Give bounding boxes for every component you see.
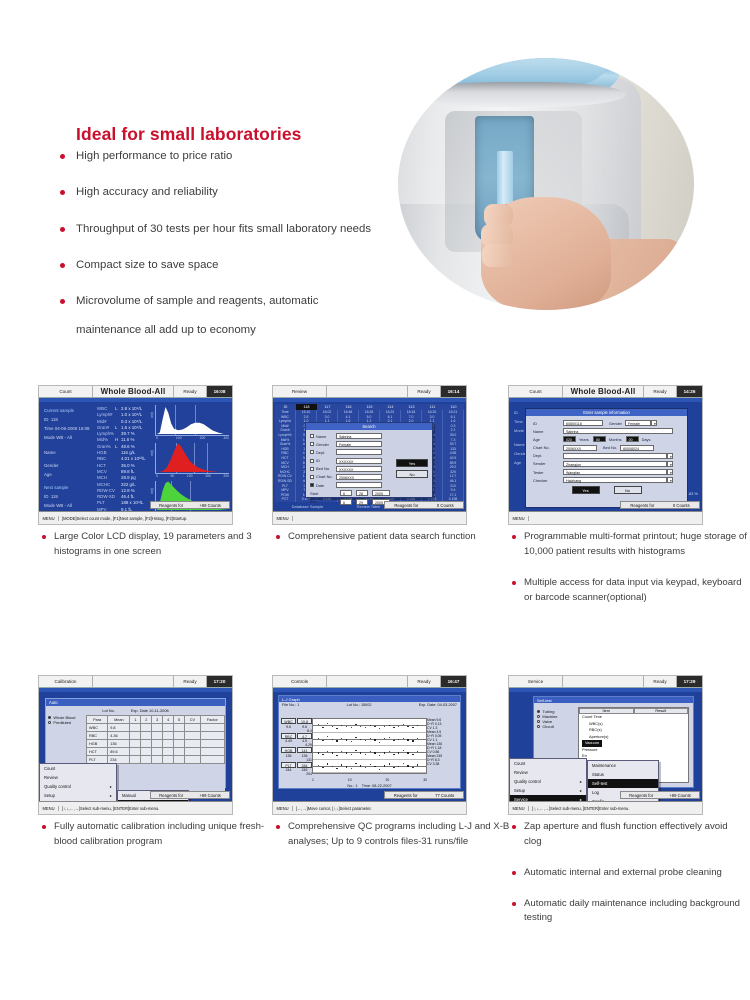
titlebar-title [327, 386, 408, 397]
clock: 16:47 [441, 676, 466, 687]
table-cell: 4.36 [108, 732, 130, 740]
search-field-label: Name [316, 434, 326, 439]
lj-x-axis: 1102030 [312, 778, 427, 782]
menu-key[interactable]: MENU [39, 806, 59, 811]
table-cell [184, 748, 200, 756]
bullet-dot-icon [60, 299, 65, 304]
lj-parameter-list[interactable]: WBC10.89.69.68.4RBC4.74.494.54.29HGB1411… [281, 718, 312, 776]
field-time: Time 04-06-2006 16:08 [44, 424, 96, 433]
lj-data-point [393, 754, 394, 755]
submenu-item-maintenance[interactable]: Maintenance [588, 761, 658, 770]
search-field-input[interactable]: XXXXXX [336, 458, 382, 464]
lj-data-point [327, 723, 328, 724]
table-cell [130, 724, 141, 732]
table-cell: 136 [108, 740, 130, 748]
chevron-down-icon[interactable]: ▾ [667, 453, 673, 459]
yes-button[interactable]: Yes [396, 459, 428, 467]
bullet-dot-icon [512, 825, 516, 829]
lj-data-point [389, 763, 390, 764]
menu-item-label: Setup [44, 791, 55, 800]
dialog-title: Search [306, 423, 432, 430]
field-row-name[interactable]: Name Sabrina [533, 428, 680, 434]
titlebar-mode: Count [509, 386, 563, 397]
param-target: 4.49 [281, 739, 296, 743]
lj-data-point [403, 750, 404, 751]
param-name[interactable]: RBC [281, 733, 296, 739]
search-date-start-row[interactable]: Start 6 28 2005 [310, 490, 428, 496]
hero-bullet: High accuracy and reliability [60, 184, 390, 201]
table-cell: HGB [87, 740, 108, 748]
file-no-label: File No.: [282, 703, 296, 707]
field-age: Age [44, 470, 96, 479]
caption-item: Programmable multi-format printout; huge… [512, 530, 747, 560]
yes-button[interactable]: Yes [572, 486, 600, 494]
table-column-header: 5 [174, 716, 185, 724]
field-id: ID 118 [44, 415, 96, 424]
caption-text: Zap aperture and flush function effectiv… [524, 820, 747, 850]
screenshot-review-search-screen: Review Ready 16:14 ID1181171161151141131… [272, 385, 467, 525]
tester-label: Tester [533, 470, 563, 475]
caption-text: Automatic internal and external probe cl… [524, 866, 722, 881]
table-cell [184, 732, 200, 740]
run-no-label: No.: [347, 784, 354, 788]
menu-item-label: Quality control [44, 782, 71, 791]
bullet-dot-icon [42, 825, 46, 829]
table-cell [200, 748, 224, 756]
id-input[interactable]: 60800118 [563, 420, 603, 426]
histogram-plt-ylabel: nr(t) [150, 488, 154, 494]
status-badge: Ready [174, 676, 207, 687]
lj-data-point [389, 725, 390, 726]
lj-data-point [403, 738, 404, 739]
table-cell [130, 748, 141, 756]
x-tick-label: 10 [348, 778, 352, 782]
table-row[interactable]: WBC9.8 [87, 724, 225, 732]
menu-key[interactable]: MENU [273, 516, 293, 521]
clock: 16:14 [441, 386, 466, 397]
radio-icon[interactable] [537, 720, 540, 723]
caption-text: Automatic daily maintenance including ba… [524, 897, 747, 927]
menu-item-setup[interactable]: Setup▸ [40, 791, 116, 800]
sender-input[interactable]: Zhangjun [563, 461, 667, 467]
lj-data-point [407, 739, 408, 740]
checkbox-icon[interactable] [310, 459, 314, 463]
screenshot-service-selftest-screen: Service Ready 17:29 Self-test TubingMach… [508, 675, 703, 815]
selftest-item-label: RBC(s) [589, 727, 602, 732]
lj-data-point [393, 727, 394, 728]
table-header-row: ParaMean12345CVFactor [87, 716, 225, 724]
lj-data-point [365, 754, 366, 755]
table-cell: RBC [87, 732, 108, 740]
bullet-dot-icon [60, 154, 65, 159]
search-field-row[interactable]: GenderFemale [310, 441, 428, 447]
menubar[interactable]: MENU [509, 511, 702, 524]
bullet-dot-icon [42, 535, 46, 539]
checker-input[interactable]: Haizhang [563, 477, 667, 483]
table-cell [152, 724, 163, 732]
tester-input[interactable]: Wangfan [563, 469, 667, 475]
field-row-sender[interactable]: Sender Zhangjun ▾ [533, 461, 680, 467]
lj-data-point [351, 768, 352, 769]
menu-item-count[interactable]: Count [40, 764, 116, 773]
search-field-input[interactable]: XXXXXX [336, 466, 382, 472]
param-name[interactable]: HGB [281, 747, 296, 753]
field-row-checker[interactable]: Checker Haizhang ▾ [533, 477, 680, 483]
menu-key[interactable]: MENU [509, 806, 529, 811]
next-field-id: ID 119 [44, 492, 96, 501]
sample-info-dialog[interactable]: Enter sample information ID 60800118 Gen… [525, 408, 688, 508]
field-mode: Mode WB - All [44, 433, 96, 442]
table-row[interactable]: RBC4.36 [87, 732, 225, 740]
menu-item-review[interactable]: Review [40, 773, 116, 782]
lj-data-point [365, 727, 366, 728]
lj-band-plt [313, 760, 426, 774]
chevron-right-icon: ▸ [580, 777, 582, 786]
date-start-label: Start [310, 491, 340, 496]
run-time-value: 08-22-2007 [372, 784, 391, 788]
menu-item-review[interactable]: Review [510, 768, 586, 777]
status-badge: Ready [644, 386, 677, 397]
bullet-dot-icon [512, 871, 516, 875]
bullet-dot-icon [512, 581, 516, 585]
calibration-mode-options[interactable]: Whole Blood Prediluted [46, 715, 86, 764]
radio-icon[interactable] [537, 725, 540, 728]
option-circuit[interactable]: Circuit [537, 724, 575, 729]
search-field-label: Bed No. [316, 466, 330, 471]
age-months-input[interactable]: 00 [593, 436, 606, 442]
field-row-id[interactable]: ID 60800118 Gender Female ▾ [533, 420, 680, 426]
dept-input[interactable] [563, 453, 667, 459]
search-field-label: ID [316, 458, 320, 463]
menu-key[interactable]: MENU [39, 516, 59, 521]
lj-data-point [332, 726, 333, 727]
chevron-down-icon[interactable]: ▾ [667, 469, 673, 475]
table-cell [174, 756, 185, 764]
selftest-item-label: Aperture(s) [589, 734, 608, 739]
lj-data-point [332, 752, 333, 753]
lj-data-point [365, 740, 366, 741]
histogram-rbc-curve [157, 442, 228, 472]
lj-footer: No.: 1 Time: 08-22-2007 [279, 784, 460, 788]
histogram-rbc-xticks: 0 50 100 150 200 [156, 474, 229, 478]
start-day[interactable]: 28 [356, 490, 368, 496]
chevron-down-icon[interactable]: ▾ [651, 420, 657, 426]
lj-data-point [351, 727, 352, 728]
chart-no-input[interactable]: 2006XXX [563, 445, 597, 451]
run-time-label: Time: [362, 784, 371, 788]
lj-data-point [403, 724, 404, 725]
no-button[interactable]: No [614, 486, 642, 494]
histogram-column: nr(t) 0 100 200 300 nr(t) [155, 405, 229, 515]
search-field-row[interactable]: Dept. [310, 449, 428, 455]
start-month[interactable]: 6 [340, 490, 352, 496]
lj-data-point [407, 765, 408, 766]
search-field-row[interactable]: NameSabrina [310, 433, 428, 439]
gender-select[interactable]: Female [625, 420, 651, 426]
name-label: Name [533, 429, 563, 434]
reagent-indicator: Reagents for +99 Counts [150, 501, 230, 509]
caption-text: Comprehensive QC programs including L-J … [288, 820, 511, 850]
table-cell [130, 740, 141, 748]
lot-row: Lot No. Exp. Date 10-11-2006 [46, 706, 225, 715]
menu-item-label: Quality control [514, 777, 541, 786]
radio-icon[interactable] [48, 716, 51, 719]
checkbox-icon[interactable] [310, 475, 314, 479]
menu-key[interactable]: MENU [273, 806, 293, 811]
lj-data-point [374, 739, 375, 740]
table-row[interactable]: HCT89.6 [87, 748, 225, 756]
lj-data-point [384, 752, 385, 753]
radio-icon[interactable] [48, 721, 51, 724]
caption-item: Automatic daily maintenance including ba… [512, 897, 747, 927]
search-field-input[interactable] [336, 482, 382, 488]
chevron-down-icon[interactable]: ▾ [667, 477, 673, 483]
col-result: Result [634, 708, 689, 714]
titlebar: Controls Ready 16:47 [273, 676, 466, 688]
bed-no-input[interactable]: 60008024 [620, 445, 654, 451]
lj-band-rbc [313, 733, 426, 747]
menu-item-setup[interactable]: Setup▸ [510, 786, 586, 795]
lj-data-point [318, 765, 319, 766]
page-title: Ideal for small laboratories [76, 124, 302, 145]
checkbox-icon[interactable] [310, 450, 314, 454]
next-sample-label: Next sample [44, 483, 96, 492]
calibration-table[interactable]: ParaMean12345CVFactorWBC9.8RBC4.36HGB136… [86, 715, 225, 764]
checkbox-icon[interactable] [310, 483, 314, 487]
lj-data-point [384, 726, 385, 727]
table-cell [163, 732, 174, 740]
search-field-label: Date [316, 483, 324, 488]
screenshot-qc-lj-graph-screen: Controls Ready 16:47 L-J Graph File No.:… [272, 675, 467, 815]
exp-label: Exp. Date [131, 708, 148, 713]
age-label: Age [533, 437, 563, 442]
table-cell: WBC [87, 724, 108, 732]
age-days-input[interactable]: 00 [626, 436, 639, 442]
checkbox-icon[interactable] [310, 434, 314, 438]
x-tick-label: 30 [423, 778, 427, 782]
titlebar: Count Whole Blood-All Ready 16:08 [39, 386, 232, 398]
reagent-indicator: Reagents for 0 Counts [384, 501, 464, 509]
status-badge: Ready [644, 676, 677, 687]
field-row-dept[interactable]: Dept. ▾ [533, 453, 680, 459]
x-tick-label: 20 [386, 778, 390, 782]
param-target: 9.6 [281, 725, 296, 729]
lj-data-point [412, 754, 413, 755]
field-gender: Gender [44, 461, 96, 470]
histogram-wbc-curve [157, 404, 228, 434]
titlebar-title: Whole Blood-All [563, 386, 644, 397]
selftest-item-list[interactable]: Count TimeWBC(s)RBC(s)Aperture(s)VacuumP… [579, 714, 688, 760]
caption-item: Fully automatic calibration including un… [42, 820, 277, 850]
search-field-input[interactable] [336, 449, 382, 455]
menubar[interactable]: MENU [←,→]Move cursor, [↑,↓]Select param… [273, 801, 466, 814]
next-field-mode: Mode WB - All [44, 501, 96, 510]
table-cell: HCT [87, 748, 108, 756]
table-cell [200, 740, 224, 748]
menu-item-quality-control[interactable]: Quality control▸ [40, 782, 116, 791]
lj-data-point [322, 740, 323, 741]
caption-item: Comprehensive patient data search functi… [276, 530, 511, 545]
reagent-indicator: Reagents for +99 Counts [150, 791, 230, 799]
lj-parameter-rbc[interactable]: RBC4.74.494.54.29 [281, 733, 312, 748]
table-cell [152, 740, 163, 748]
table-cell [141, 748, 152, 756]
caption-text: Comprehensive patient data search functi… [288, 530, 476, 545]
caption-text: Programmable multi-format printout; huge… [524, 530, 747, 560]
search-field-input[interactable]: Sabrina [336, 433, 382, 439]
table-cell [152, 756, 163, 764]
selftest-panel-title: Self-test [534, 697, 693, 703]
clock: 14:26 [677, 386, 702, 397]
table-cell [141, 756, 152, 764]
menu-key[interactable]: MENU [509, 516, 529, 521]
analyzer-photo [398, 58, 694, 310]
file-no-value: 1 [297, 703, 299, 707]
exp-value: 10-11-2006 [149, 708, 169, 713]
chart-no-label: Chart No. [533, 445, 563, 450]
lj-parameter-hgb[interactable]: HGB141136136131 [281, 747, 312, 762]
titlebar-mode: Calibration [39, 676, 93, 687]
lj-data-point [374, 766, 375, 767]
table-cell: 89.6 [108, 748, 130, 756]
table-cell [200, 732, 224, 740]
search-field-row[interactable]: Date [310, 482, 428, 488]
lj-data-point [322, 767, 323, 768]
menu-item-count[interactable]: Count [510, 759, 586, 768]
radio-icon[interactable] [537, 715, 540, 718]
table-cell [184, 756, 200, 764]
menubar[interactable]: MENU [273, 511, 466, 524]
selftest-item[interactable]: Err [579, 753, 688, 760]
menubar[interactable]: MENU [↑,↓,←,→]Select sub-menu, [ENTER]En… [509, 801, 702, 814]
table-cell [141, 740, 152, 748]
chevron-right-icon: ▸ [110, 791, 112, 800]
lj-parameter-plt[interactable]: PLT284244245204 [281, 762, 312, 777]
param-upper: 10.8 [297, 718, 312, 724]
menu-item-label: Status [592, 770, 604, 779]
checkbox-icon[interactable] [310, 442, 314, 446]
submenu-item-self-test[interactable]: Self-test [588, 779, 658, 788]
field-row-tester[interactable]: Tester Wangfan ▾ [533, 469, 680, 475]
menu-hint: [↑,↓,←,→]Select sub-menu, [ENTER]Enter s… [529, 806, 629, 811]
menu-item-quality-control[interactable]: Quality control▸ [510, 777, 586, 786]
caption-item: Automatic internal and external probe cl… [512, 866, 747, 881]
selftest-option-list[interactable]: TubingMachineValveCircuit [537, 709, 575, 729]
search-field-input[interactable]: Female [336, 441, 382, 447]
param-name[interactable]: WBC [281, 718, 296, 724]
caption-text: Large Color LCD display, 19 parameters a… [54, 530, 277, 560]
lj-data-point [336, 755, 337, 756]
hero-bullet-text-line2: maintenance all add up to economy [76, 322, 319, 339]
lj-stats-rbc: Mean 4.5D−R 0.05CV 1.1 [427, 730, 458, 742]
menu-item-label: Count [514, 759, 525, 768]
lj-data-point [412, 740, 413, 741]
menubar[interactable]: MENU [↑,↓,←,→]Select sub-menu, [ENTER]En… [39, 801, 232, 814]
table-column-header: 4 [163, 716, 174, 724]
menubar[interactable]: MENU [MODE]Select count mode, [F1]Next s… [39, 511, 232, 524]
field-row-age[interactable]: Age 020 Years 00 Months 00 Days [533, 436, 680, 442]
field-row-chart[interactable]: Chart No. 2006XXX Bed No. 60008024 [533, 445, 680, 451]
table-row[interactable]: HGB136 [87, 740, 225, 748]
table-cell [152, 732, 163, 740]
lj-data-point [379, 755, 380, 756]
lj-data-point [379, 742, 380, 743]
table-cell [152, 748, 163, 756]
lj-data-point [332, 739, 333, 740]
stat-cv: 3.38 [433, 762, 440, 766]
lj-data-point [374, 726, 375, 727]
results-column: WBCL2.8 x 10⁹/LLymph#1.0 x 10⁹/LMid#0.3 … [97, 406, 153, 524]
titlebar-mode: Review [273, 386, 327, 397]
sender-label: Sender [533, 461, 563, 466]
titlebar: Count Whole Blood-All Ready 14:26 [509, 386, 702, 398]
lj-data-point [327, 763, 328, 764]
dialog-title: Enter sample information [526, 409, 687, 416]
field-name: Name [44, 448, 96, 457]
start-year[interactable]: 2005 [372, 490, 390, 496]
chevron-down-icon[interactable]: ▾ [667, 461, 673, 467]
hero-bullet-text: Throughput of 30 tests per hour fits sma… [76, 221, 371, 238]
lj-band-hgb [313, 746, 426, 760]
lj-data-point [393, 767, 394, 768]
lot-no-value: 15002 [361, 703, 372, 707]
lj-data-point [379, 769, 380, 770]
lj-band-wbc [313, 719, 426, 733]
menu-item-label: Review [514, 768, 528, 777]
lj-data-point [336, 728, 337, 729]
param-target: 244 [281, 768, 296, 772]
lj-stats-plt: Mean 245D−R 8.3CV 3.38 [427, 754, 458, 766]
titlebar: Calibration Ready 17:20 [39, 676, 232, 688]
clock: 16:08 [207, 386, 232, 397]
age-years-input[interactable]: 020 [563, 436, 576, 442]
caption-block-4: Fully automatic calibration including un… [42, 820, 277, 863]
option-prediluted[interactable]: Prediluted [48, 720, 86, 725]
titlebar: Review Ready 16:14 [273, 386, 466, 398]
option-label: Circuit [542, 724, 553, 729]
search-dialog[interactable]: Search NameSabrinaGenderFemaleDept.IDXXX… [305, 422, 433, 498]
param-upper: 4.7 [297, 733, 312, 739]
lj-data-point [318, 738, 319, 739]
lj-graph-panel: L-J Graph File No.: 1 Lot No.: 15002 Exp… [278, 695, 461, 789]
search-field-input[interactable]: 2006XXX [336, 474, 382, 480]
bed-no-label: Bed No. [603, 445, 617, 450]
table-column-header: 1 [130, 716, 141, 724]
submenu-item-status[interactable]: Status [588, 770, 658, 779]
histogram-rbc: nr(t) 0 50 100 150 200 [155, 443, 229, 474]
table-cell [184, 724, 200, 732]
menu-item-label: Review [44, 773, 58, 782]
exp-date-value: 04-03-2007 [438, 703, 457, 707]
bullet-dot-icon [276, 535, 280, 539]
lj-parameter-wbc[interactable]: WBC10.89.69.68.4 [281, 718, 312, 733]
selftest-item-label: WBC(s) [589, 721, 603, 726]
param-upper: 284 [297, 762, 312, 768]
lj-plot-area[interactable] [312, 718, 427, 774]
reagent-indicator: Reagents for 0 Counts [620, 501, 700, 509]
table-column-header: CV [184, 716, 200, 724]
row-label: PCT [275, 497, 296, 502]
name-input[interactable]: Sabrina [563, 428, 673, 434]
titlebar: Service Ready 17:29 [509, 676, 702, 688]
no-button[interactable]: No [396, 470, 428, 478]
param-name[interactable]: PLT [281, 762, 296, 768]
param-target: 136 [281, 754, 296, 758]
radio-icon[interactable] [537, 710, 540, 713]
checkbox-icon[interactable] [310, 467, 314, 471]
age-years-unit: Years [579, 437, 589, 442]
table-column-header: 2 [141, 716, 152, 724]
